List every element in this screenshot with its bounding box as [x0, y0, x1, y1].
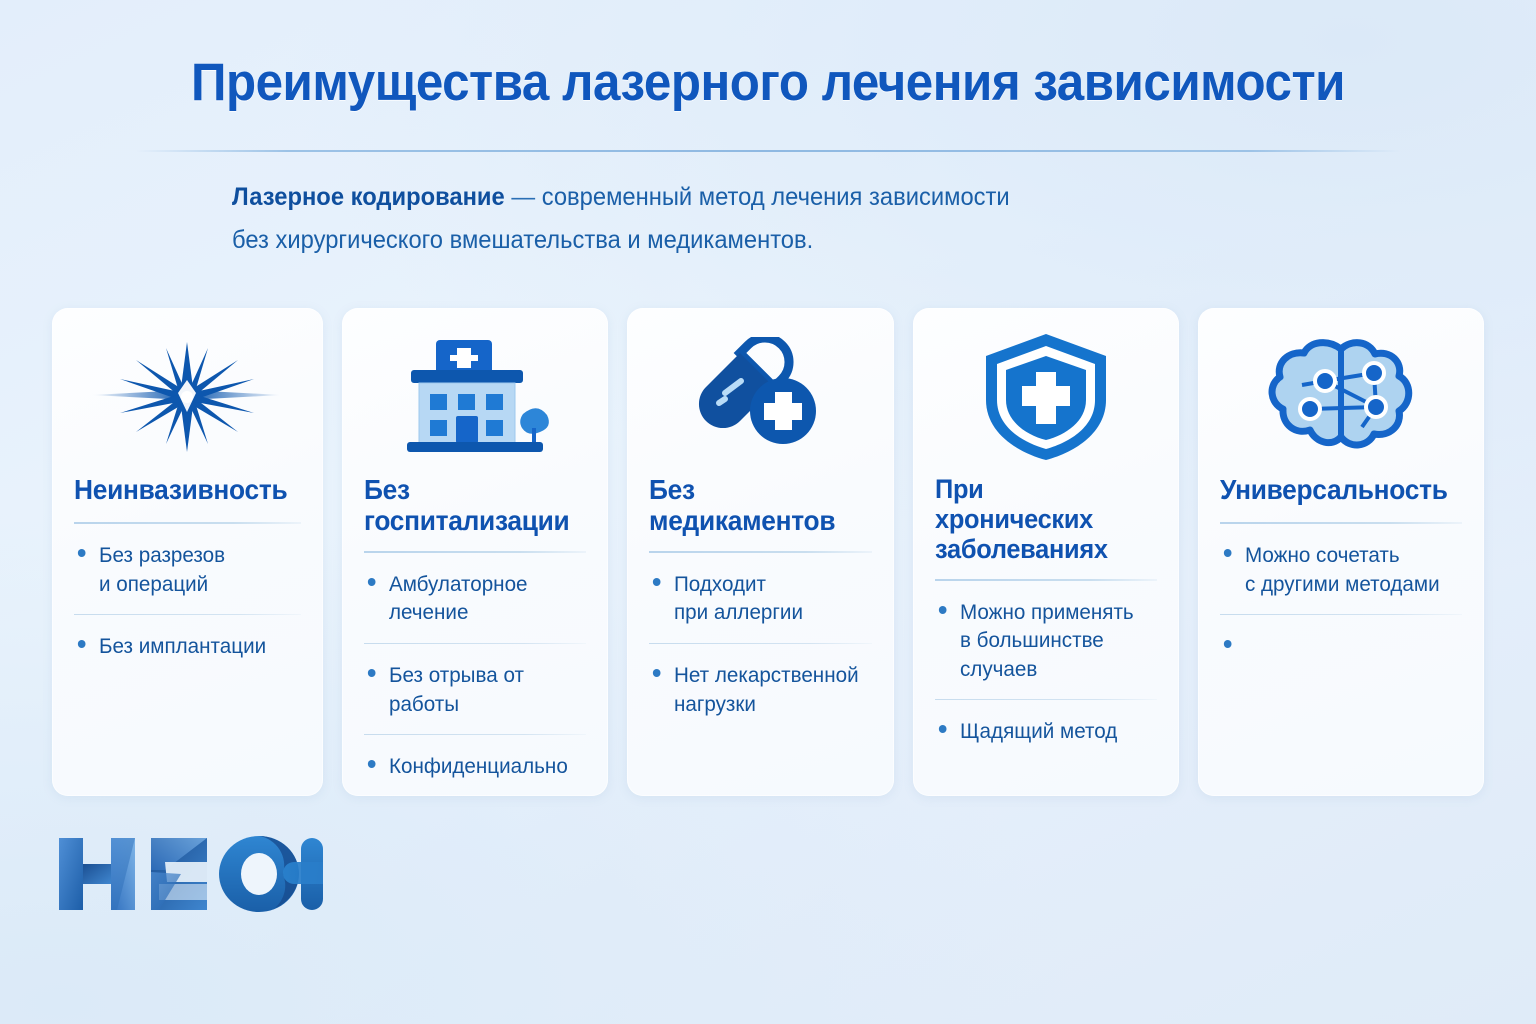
bullet-dot	[938, 725, 946, 733]
subtitle-dash: —	[505, 183, 542, 211]
list-item: Подходит при аллергии	[649, 553, 862, 627]
bullet-text: Без разрезов и операций	[99, 543, 225, 596]
bullet-dot	[368, 760, 376, 768]
bullet-dot	[653, 669, 661, 677]
list-item: Можно сочетать с другими методами	[1220, 524, 1452, 598]
benefit-cards-row: Неинвазивность Без разрезов и операций Б…	[52, 308, 1484, 796]
bullet-text: Нет лекарственной нагрузки	[674, 663, 859, 716]
page-title: Преимущества лазерного лечения зависимос…	[54, 52, 1482, 113]
hospital-building-icon	[364, 322, 586, 472]
card-title: Неинвазивность	[74, 474, 287, 508]
subtitle: Лазерное кодирование — современный метод…	[232, 176, 1144, 262]
card-bullet-list: Подходит при аллергии Нет лекарственной …	[649, 553, 871, 718]
bullet-text: Щадящий метод	[960, 719, 1117, 743]
subtitle-line-2: без хирургического вмешательства и медик…	[232, 226, 813, 254]
bullet-dot	[368, 669, 376, 677]
card-bullet-list: Без разрезов и операций Без имплантации	[74, 524, 301, 661]
neo-plus-logo[interactable]	[55, 832, 323, 921]
bullet-text: Амбулаторное лечение	[389, 572, 528, 625]
subtitle-rest: современный метод лечения зависимости	[542, 183, 1010, 211]
benefit-card-no-hospitalization[interactable]: Без госпитализации Амбулаторное лечение …	[342, 308, 608, 796]
benefit-card-universality[interactable]: Универсальность Можно сочетать с другими…	[1198, 308, 1484, 796]
card-bullet-list: Можно сочетать с другими методами	[1220, 524, 1462, 632]
bullet-dot	[1224, 640, 1232, 648]
bullet-dot	[78, 549, 86, 557]
infographic-poster: Преимущества лазерного лечения зависимос…	[0, 0, 1536, 1024]
bullet-dot	[653, 578, 661, 586]
list-item: Без разрезов и операций	[74, 524, 292, 598]
bullet-dot	[78, 640, 86, 648]
card-title: При хронических заболеваниях	[935, 474, 1144, 565]
subtitle-strong: Лазерное кодирование	[232, 183, 505, 211]
bullet-text: Можно сочетать с другими методами	[1245, 543, 1440, 596]
card-bullet-list: Амбулаторное лечение Без отрыва от работ…	[364, 553, 586, 781]
bullet-dot	[1224, 549, 1232, 557]
pills-cross-icon	[649, 322, 871, 472]
card-title: Без госпитализации	[364, 474, 573, 537]
bullet-text: Без отрыва от работы	[389, 663, 524, 716]
list-item: Щадящий метод	[935, 700, 1148, 746]
list-item: Нет лекарственной нагрузки	[649, 644, 862, 718]
list-item: Конфиденциально	[364, 735, 577, 781]
bullet-dot	[938, 606, 946, 614]
bullet-text: Можно применять в большинстве случаев	[960, 600, 1134, 681]
card-title: Универсальность	[1220, 474, 1448, 508]
benefit-card-noninvasive[interactable]: Неинвазивность Без разрезов и операций Б…	[52, 308, 323, 796]
benefit-card-no-medication[interactable]: Без медикаментов Подходит при аллергии Н…	[627, 308, 893, 796]
bullet-text: Без имплантации	[99, 634, 266, 658]
list-item: Амбулаторное лечение	[364, 553, 577, 627]
laser-burst-icon	[74, 322, 301, 472]
bullet-text: Подходит при аллергии	[674, 572, 803, 625]
list-item	[1220, 615, 1452, 632]
title-divider	[136, 150, 1400, 152]
bullet-text: Конфиденциально	[389, 754, 568, 778]
list-item: Без отрыва от работы	[364, 644, 577, 718]
benefit-card-chronic-conditions[interactable]: При хронических заболеваниях Можно приме…	[913, 308, 1179, 796]
list-item: Можно применять в большинстве случаев	[935, 581, 1148, 684]
card-bullet-list: Можно применять в большинстве случаев Ща…	[935, 581, 1157, 746]
list-item: Без имплантации	[74, 615, 292, 661]
shield-cross-icon	[935, 322, 1157, 472]
bullet-dot	[368, 578, 376, 586]
card-title: Без медикаментов	[649, 474, 858, 537]
brain-network-icon	[1220, 322, 1462, 472]
